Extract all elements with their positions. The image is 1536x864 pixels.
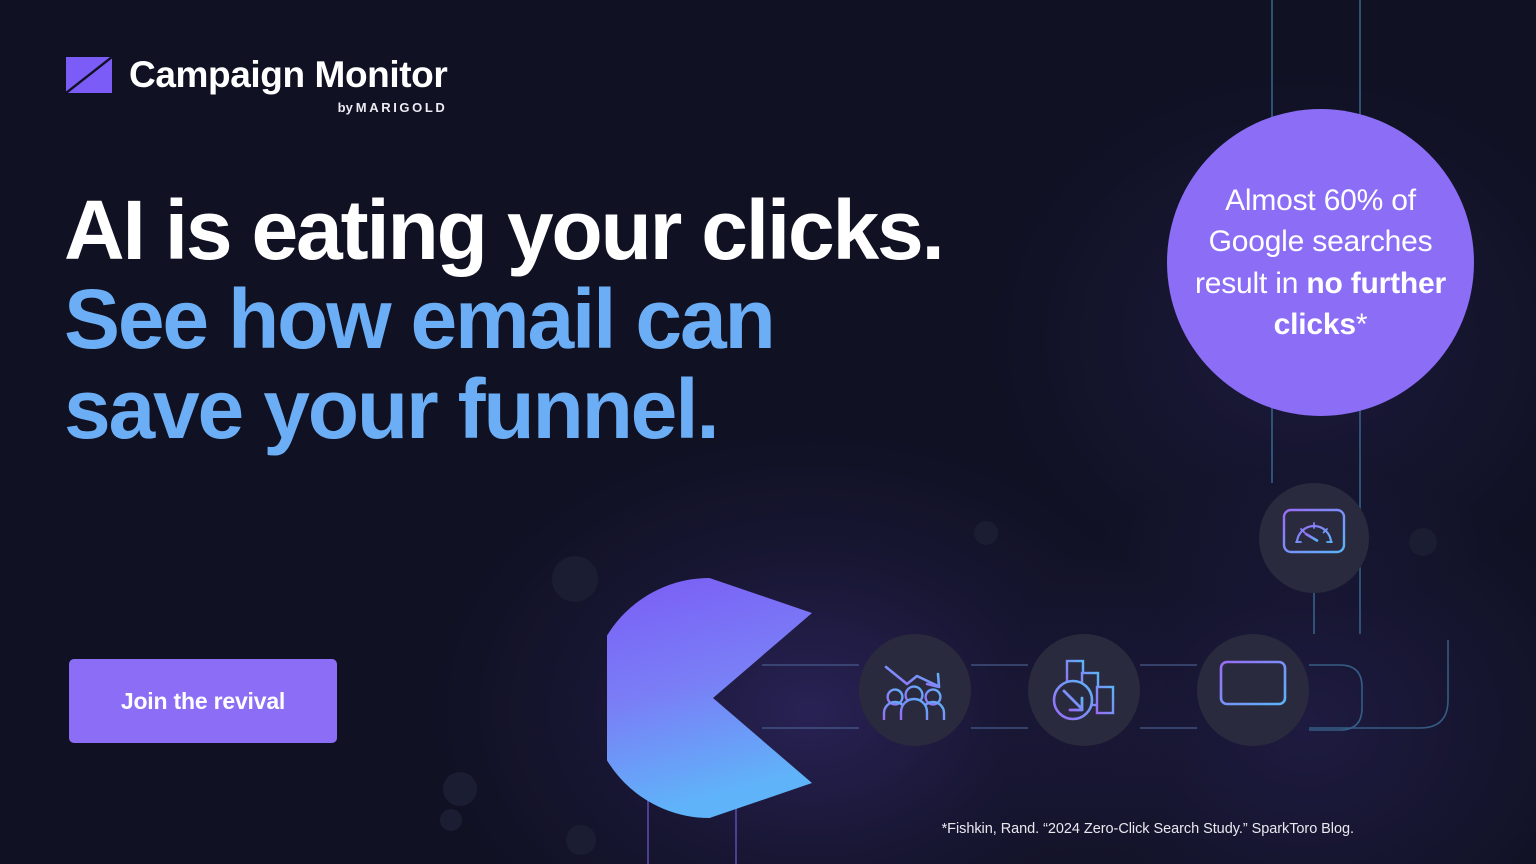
- audience-decline-icon: [859, 634, 971, 746]
- pacman-shape: [607, 578, 812, 818]
- decorative-dot: [566, 825, 596, 855]
- brand-by-label: by: [338, 100, 353, 115]
- brand-parent: byMARIGOLD: [66, 100, 447, 115]
- monitor-speedometer-icon: [1259, 483, 1369, 593]
- join-the-revival-button[interactable]: Join the revival: [69, 659, 337, 743]
- badge-text: Almost 60% of Google searches result in …: [1167, 180, 1474, 344]
- envelope-icon: [66, 57, 112, 93]
- brand-parent-name: MARIGOLD: [356, 100, 448, 115]
- brand-name: Campaign Monitor: [129, 56, 447, 93]
- marketing-banner: Campaign Monitor byMARIGOLD AI is eating…: [0, 0, 1536, 864]
- status-badge: Almost 60% of Google searches result in …: [1167, 109, 1474, 416]
- badge-text-part-2: *: [1356, 308, 1367, 341]
- decorative-dot: [440, 809, 462, 831]
- decorative-dot: [443, 772, 477, 806]
- logo-row: Campaign Monitor: [66, 56, 447, 93]
- monitor-analytics-icon: [1197, 634, 1309, 746]
- decorative-dot: [552, 556, 598, 602]
- headline-line-2: See how email can: [64, 275, 943, 364]
- decorative-dot: [1409, 528, 1437, 556]
- brand-logo[interactable]: Campaign Monitor byMARIGOLD: [66, 56, 447, 115]
- footnote: *Fishkin, Rand. “2024 Zero-Click Search …: [942, 821, 1354, 837]
- headline-line-3: save your funnel.: [64, 365, 943, 454]
- headline-line-1: AI is eating your clicks.: [64, 186, 943, 275]
- decorative-dot: [974, 521, 998, 545]
- page-title: AI is eating your clicks. See how email …: [64, 186, 943, 454]
- bar-chart-decline-icon: [1028, 634, 1140, 746]
